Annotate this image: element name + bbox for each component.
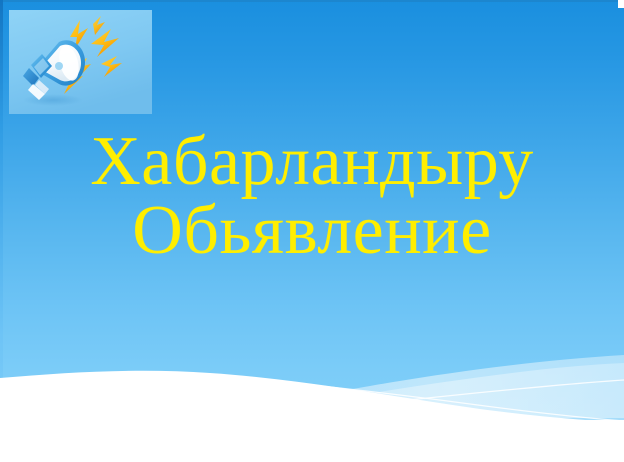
megaphone-icon [9, 10, 152, 114]
megaphone-shadow [23, 94, 83, 106]
title-line-kazakh: Хабарландыру [0, 128, 624, 197]
presentation-slide: Хабарландыру Обьявление [0, 0, 624, 462]
announcement-image [9, 10, 152, 114]
slide-title: Хабарландыру Обьявление [0, 128, 624, 265]
megaphone-button [55, 62, 63, 70]
title-line-russian: Обьявление [0, 197, 624, 266]
